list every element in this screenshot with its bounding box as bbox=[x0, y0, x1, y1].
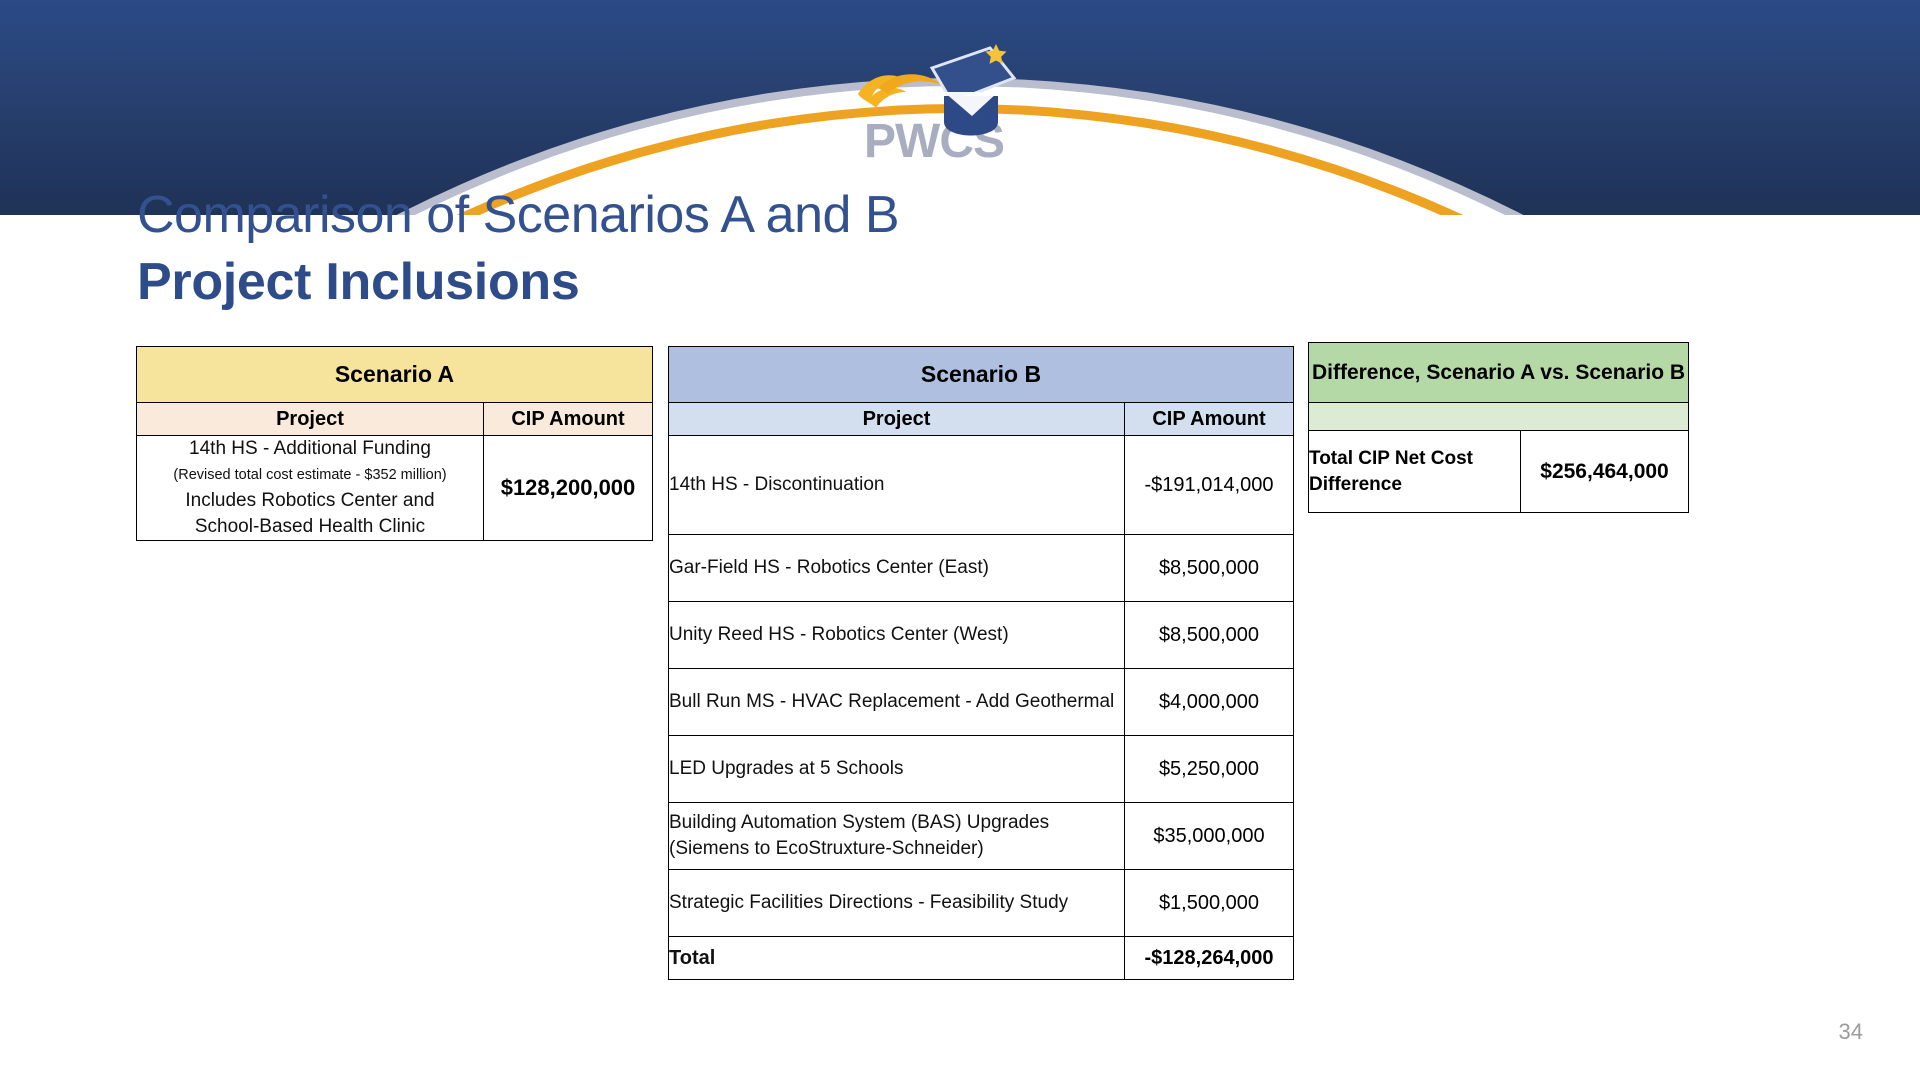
difference-row-amount: $256,464,000 bbox=[1521, 431, 1689, 513]
table-header-row: Difference, Scenario A vs. Scenario B bbox=[1309, 343, 1689, 403]
table-header-row: Scenario A bbox=[137, 347, 653, 403]
scenario-b-project-6: Strategic Facilities Directions - Feasib… bbox=[669, 870, 1125, 937]
scenario-b-project-0: 14th HS - Discontinuation bbox=[669, 436, 1125, 535]
table-spacer-row bbox=[1309, 403, 1689, 431]
scenario-a-table: Scenario A Project CIP Amount 14th HS - … bbox=[136, 346, 653, 541]
difference-spacer bbox=[1309, 403, 1689, 431]
table-column-header-row: Project CIP Amount bbox=[669, 403, 1294, 436]
scenario-a-col-amount: CIP Amount bbox=[484, 403, 653, 436]
scenario-b-amount-0: -$191,014,000 bbox=[1125, 436, 1294, 535]
scenario-b-project-4: LED Upgrades at 5 Schools bbox=[669, 736, 1125, 803]
scenario-b-col-amount: CIP Amount bbox=[1125, 403, 1294, 436]
scenario-b-amount-3: $4,000,000 bbox=[1125, 669, 1294, 736]
scenario-b-project-1: Gar-Field HS - Robotics Center (East) bbox=[669, 535, 1125, 602]
graduation-cap-icon bbox=[848, 30, 1028, 170]
scenario-a-project-cell: 14th HS - Additional Funding (Revised to… bbox=[137, 436, 484, 541]
scenario-b-title: Scenario B bbox=[669, 347, 1294, 403]
scenario-b-amount-2: $8,500,000 bbox=[1125, 602, 1294, 669]
scenario-b-amount-5: $35,000,000 bbox=[1125, 803, 1294, 870]
scenario-a-project-line-1: 14th HS - Additional Funding bbox=[189, 438, 431, 459]
difference-table: Difference, Scenario A vs. Scenario B To… bbox=[1308, 342, 1689, 513]
scenario-b-total-amount: -$128,264,000 bbox=[1125, 937, 1294, 980]
scenario-b-amount-1: $8,500,000 bbox=[1125, 535, 1294, 602]
page-number: 34 bbox=[1839, 1019, 1863, 1045]
scenario-b-table: Scenario B Project CIP Amount 14th HS - … bbox=[668, 346, 1294, 980]
scenario-a-project-line-3: Includes Robotics Center and bbox=[137, 488, 483, 514]
table-column-header-row: Project CIP Amount bbox=[137, 403, 653, 436]
slide-canvas: PWCS Comparison of Scenarios A and B Pro… bbox=[0, 0, 1920, 1080]
scenario-a-title: Scenario A bbox=[137, 347, 653, 403]
scenario-b-col-project: Project bbox=[669, 403, 1125, 436]
table-total-row: Total -$128,264,000 bbox=[669, 937, 1294, 980]
difference-row-label: Total CIP Net Cost Difference bbox=[1309, 431, 1521, 513]
scenario-b-project-2: Unity Reed HS - Robotics Center (West) bbox=[669, 602, 1125, 669]
table-row: Total CIP Net Cost Difference $256,464,0… bbox=[1309, 431, 1689, 513]
scenario-b-amount-6: $1,500,000 bbox=[1125, 870, 1294, 937]
scenario-a-project-note: (Revised total cost estimate - $352 mill… bbox=[137, 462, 483, 488]
scenario-a-col-project: Project bbox=[137, 403, 484, 436]
scenario-a-amount-cell: $128,200,000 bbox=[484, 436, 653, 541]
scenario-b-project-5: Building Automation System (BAS) Upgrade… bbox=[669, 803, 1125, 870]
table-row: Gar-Field HS - Robotics Center (East) $8… bbox=[669, 535, 1294, 602]
page-title-line-2: Project Inclusions bbox=[137, 252, 580, 312]
table-row: LED Upgrades at 5 Schools $5,250,000 bbox=[669, 736, 1294, 803]
page-title-line-1: Comparison of Scenarios A and B bbox=[137, 185, 899, 245]
table-row: Unity Reed HS - Robotics Center (West) $… bbox=[669, 602, 1294, 669]
scenario-b-amount-4: $5,250,000 bbox=[1125, 736, 1294, 803]
table-row: Building Automation System (BAS) Upgrade… bbox=[669, 803, 1294, 870]
difference-title: Difference, Scenario A vs. Scenario B bbox=[1309, 343, 1689, 403]
table-header-row: Scenario B bbox=[669, 347, 1294, 403]
table-row: 14th HS - Discontinuation -$191,014,000 bbox=[669, 436, 1294, 535]
table-row: Bull Run MS - HVAC Replacement - Add Geo… bbox=[669, 669, 1294, 736]
table-row: Strategic Facilities Directions - Feasib… bbox=[669, 870, 1294, 937]
scenario-b-project-3: Bull Run MS - HVAC Replacement - Add Geo… bbox=[669, 669, 1125, 736]
scenario-a-project-line-4: School-Based Health Clinic bbox=[137, 514, 483, 540]
scenario-b-total-label: Total bbox=[669, 937, 1125, 980]
table-row: 14th HS - Additional Funding (Revised to… bbox=[137, 436, 653, 541]
